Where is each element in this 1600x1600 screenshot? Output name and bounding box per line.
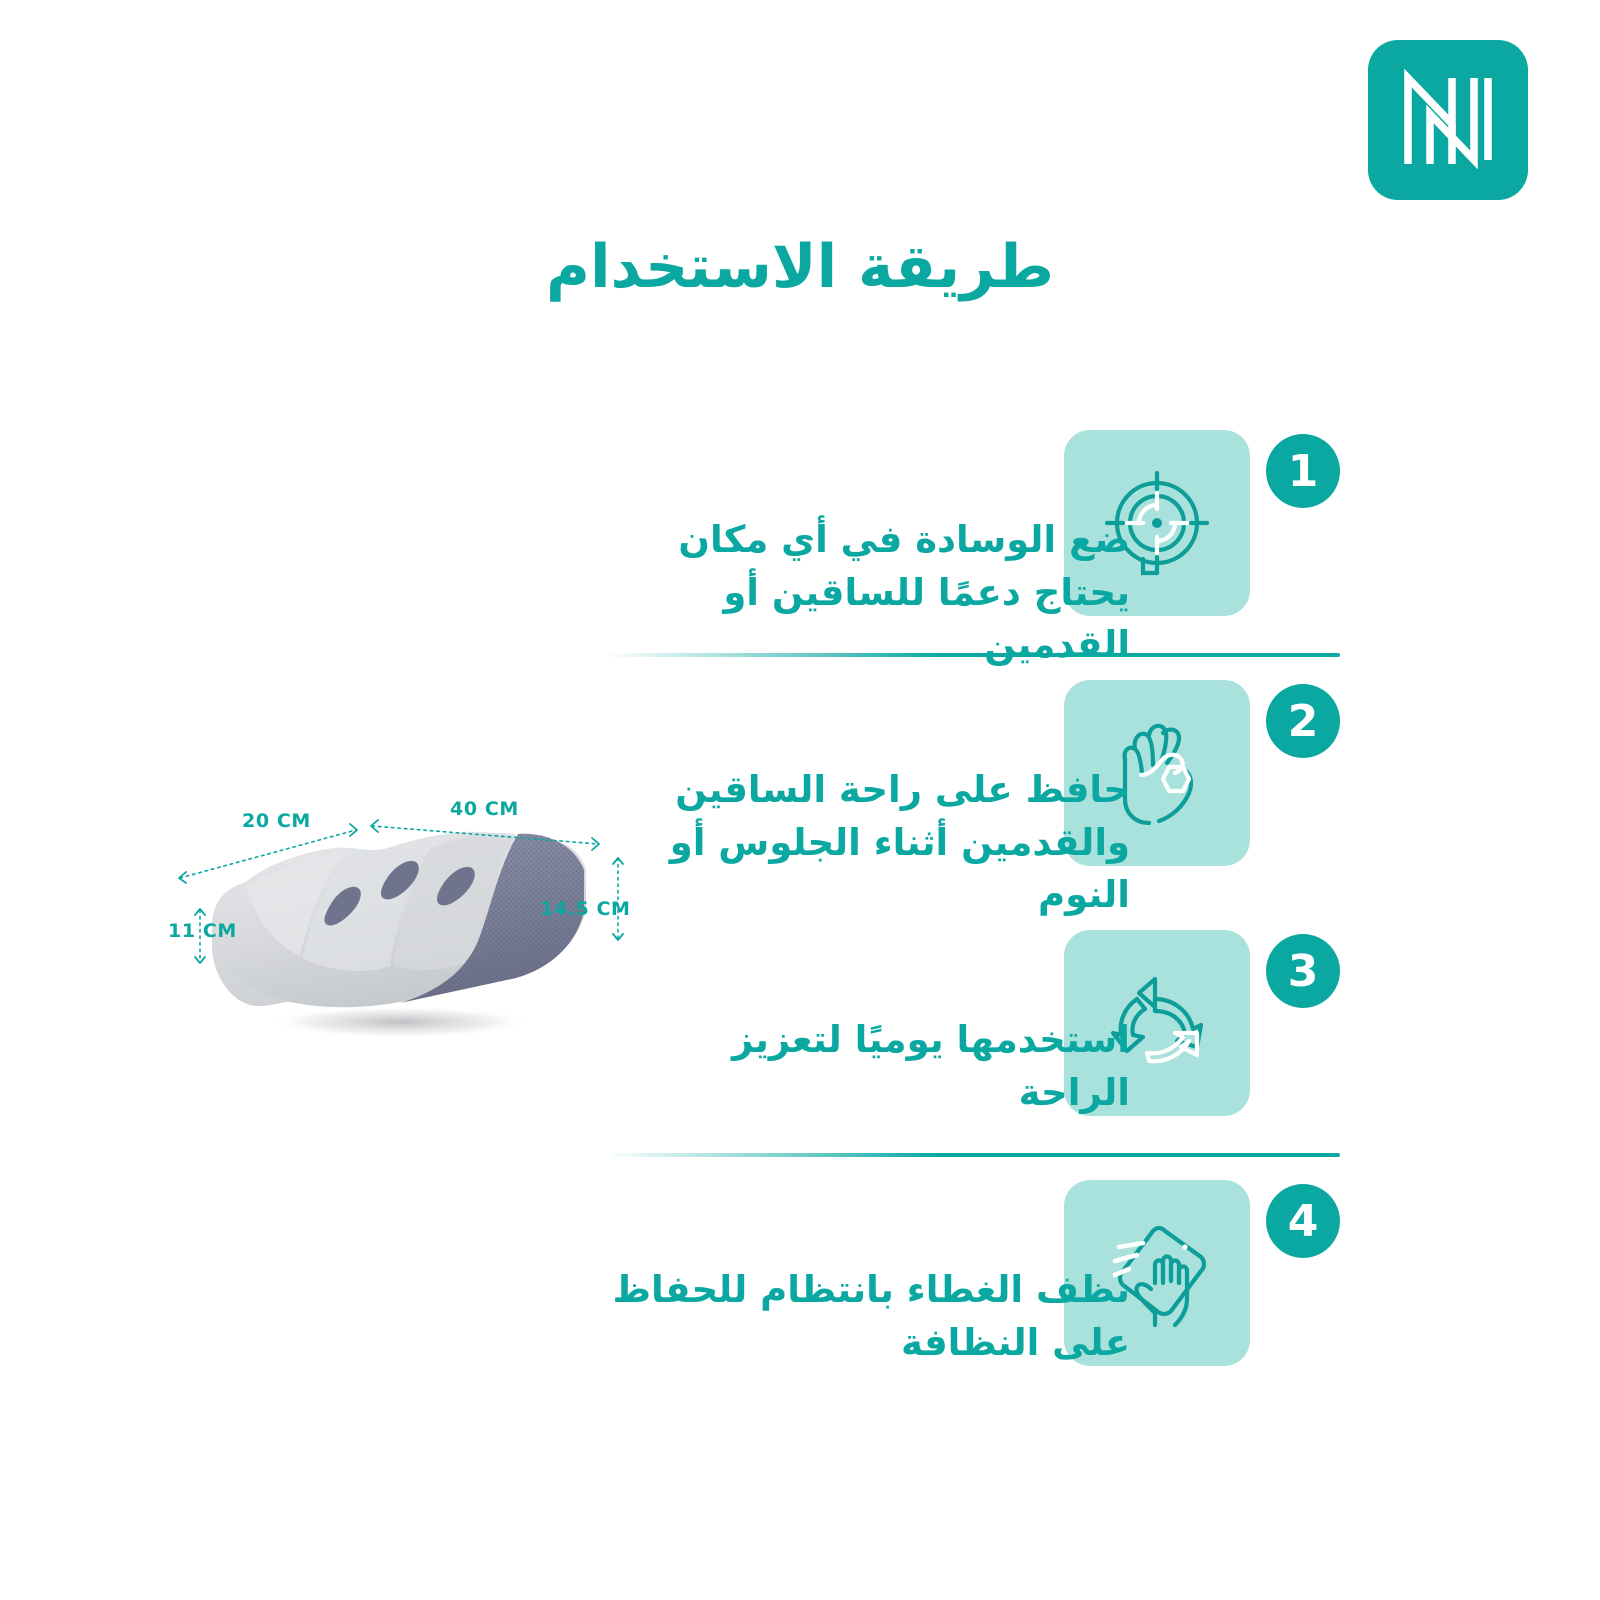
infographic-page: طريقة الاستخدام [0, 0, 1600, 1600]
dimension-front-height-label: 11 CM [168, 920, 237, 942]
usage-steps-list: 1 [610, 430, 1340, 1410]
step-item-2: 2 [610, 680, 1340, 930]
step-number-badge-2: 2 [1266, 684, 1340, 758]
product-illustration: 20 CM 40 CM 11 CM 14.5 CM [150, 770, 650, 1060]
step-item-3: 3 است [610, 930, 1340, 1180]
nn-monogram-icon [1396, 68, 1500, 172]
step-item-4: 4 [610, 1180, 1340, 1410]
brand-logo [1368, 40, 1528, 200]
dimension-depth-label: 20 CM [242, 810, 311, 832]
step-divider-1 [610, 653, 1340, 657]
step-number-badge-4: 4 [1266, 1184, 1340, 1258]
step-item-1: 1 [610, 430, 1340, 680]
step-number-badge-1: 1 [1266, 434, 1340, 508]
dimension-width-label: 40 CM [450, 798, 519, 820]
step-number-badge-3: 3 [1266, 934, 1340, 1008]
step-4-description: نظف الغطاء بانتظام للحفاظ على النظافة [610, 1264, 1130, 1369]
step-2-description: حافظ على راحة الساقين والقدمين أثناء الج… [610, 764, 1130, 922]
page-title: طريقة الاستخدام [0, 232, 1600, 302]
product-shadow [270, 1006, 530, 1038]
step-1-description: ضع الوسادة في أي مكان يحتاج دعمًا للساقي… [610, 514, 1130, 672]
step-3-description: استخدمها يوميًا لتعزيز الراحة [610, 1014, 1130, 1119]
